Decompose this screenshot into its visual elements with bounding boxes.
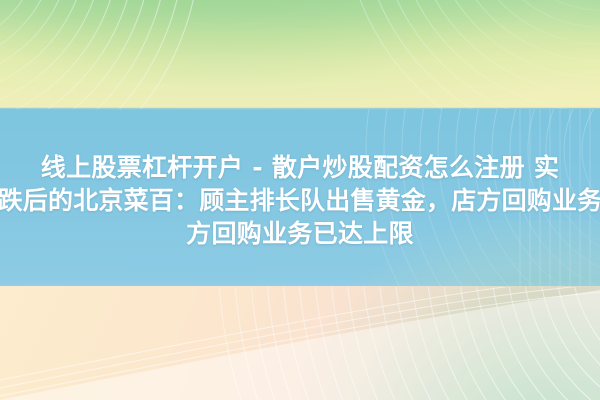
banner-headline: 线上股票杠杆开户 - 散户炒股配资怎么注册 实 跌后的北京菜百：顾主排长队出售黄… — [0, 151, 600, 250]
decorative-banner: 线上股票杠杆开户 - 散户炒股配资怎么注册 实 跌后的北京菜百：顾主排长队出售黄… — [0, 0, 600, 400]
headline-line-2: 跌后的北京菜百：顾主排长队出售黄金，店方回购业务 — [0, 184, 600, 217]
headline-line-3: 方回购业务已达上限 — [0, 217, 600, 250]
headline-line-1: 线上股票杠杆开户 - 散户炒股配资怎么注册 实 — [0, 151, 600, 184]
headline-container: 线上股票杠杆开户 - 散户炒股配资怎么注册 实 跌后的北京菜百：顾主排长队出售黄… — [0, 0, 600, 400]
